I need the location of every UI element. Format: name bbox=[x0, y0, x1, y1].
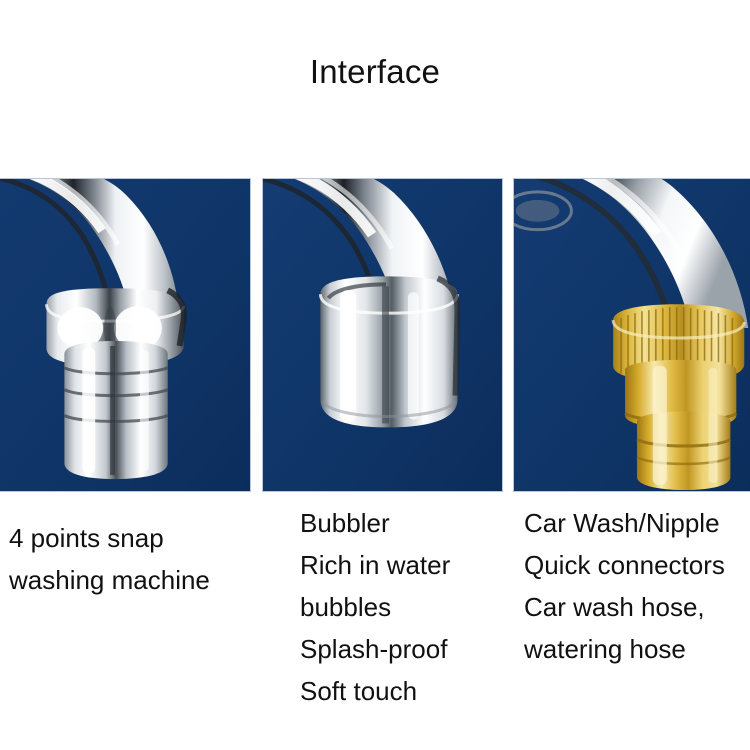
caption-line: Car wash hose, bbox=[524, 586, 750, 628]
product-photo-row bbox=[0, 178, 750, 492]
caption-line: Bubbler bbox=[300, 502, 505, 544]
caption-line: Splash-proof bbox=[300, 628, 505, 670]
photo-panel-bubbler bbox=[262, 178, 503, 492]
photo-panel-car-wash-nipple bbox=[513, 178, 750, 492]
caption-bubbler: Bubbler Rich in water bubbles Splash-pro… bbox=[300, 492, 505, 712]
faucet-4-point-snap-illustration bbox=[0, 179, 250, 491]
caption-row: 4 points snap washing machine Bubbler Ri… bbox=[0, 492, 750, 750]
caption-line: 4 points snap bbox=[9, 517, 253, 559]
photo-panel-4-point-snap bbox=[0, 178, 251, 492]
caption-4-point-snap: 4 points snap washing machine bbox=[9, 492, 253, 601]
caption-line: Soft touch bbox=[300, 670, 505, 712]
caption-line: Quick connectors bbox=[524, 544, 750, 586]
product-interface-image: Interface bbox=[0, 0, 750, 750]
caption-line: bubbles bbox=[300, 586, 505, 628]
outlet-barrel bbox=[64, 341, 167, 479]
caption-line: Car Wash/Nipple bbox=[524, 502, 750, 544]
caption-car-wash-nipple: Car Wash/Nipple Quick connectors Car was… bbox=[524, 492, 750, 670]
page-title: Interface bbox=[0, 52, 750, 92]
faucet-bubbler-illustration bbox=[263, 179, 502, 491]
caption-line: Rich in water bbox=[300, 544, 505, 586]
caption-line: watering hose bbox=[524, 628, 750, 670]
caption-line: washing machine bbox=[9, 559, 253, 601]
faucet-brass-nipple-illustration bbox=[514, 179, 750, 491]
